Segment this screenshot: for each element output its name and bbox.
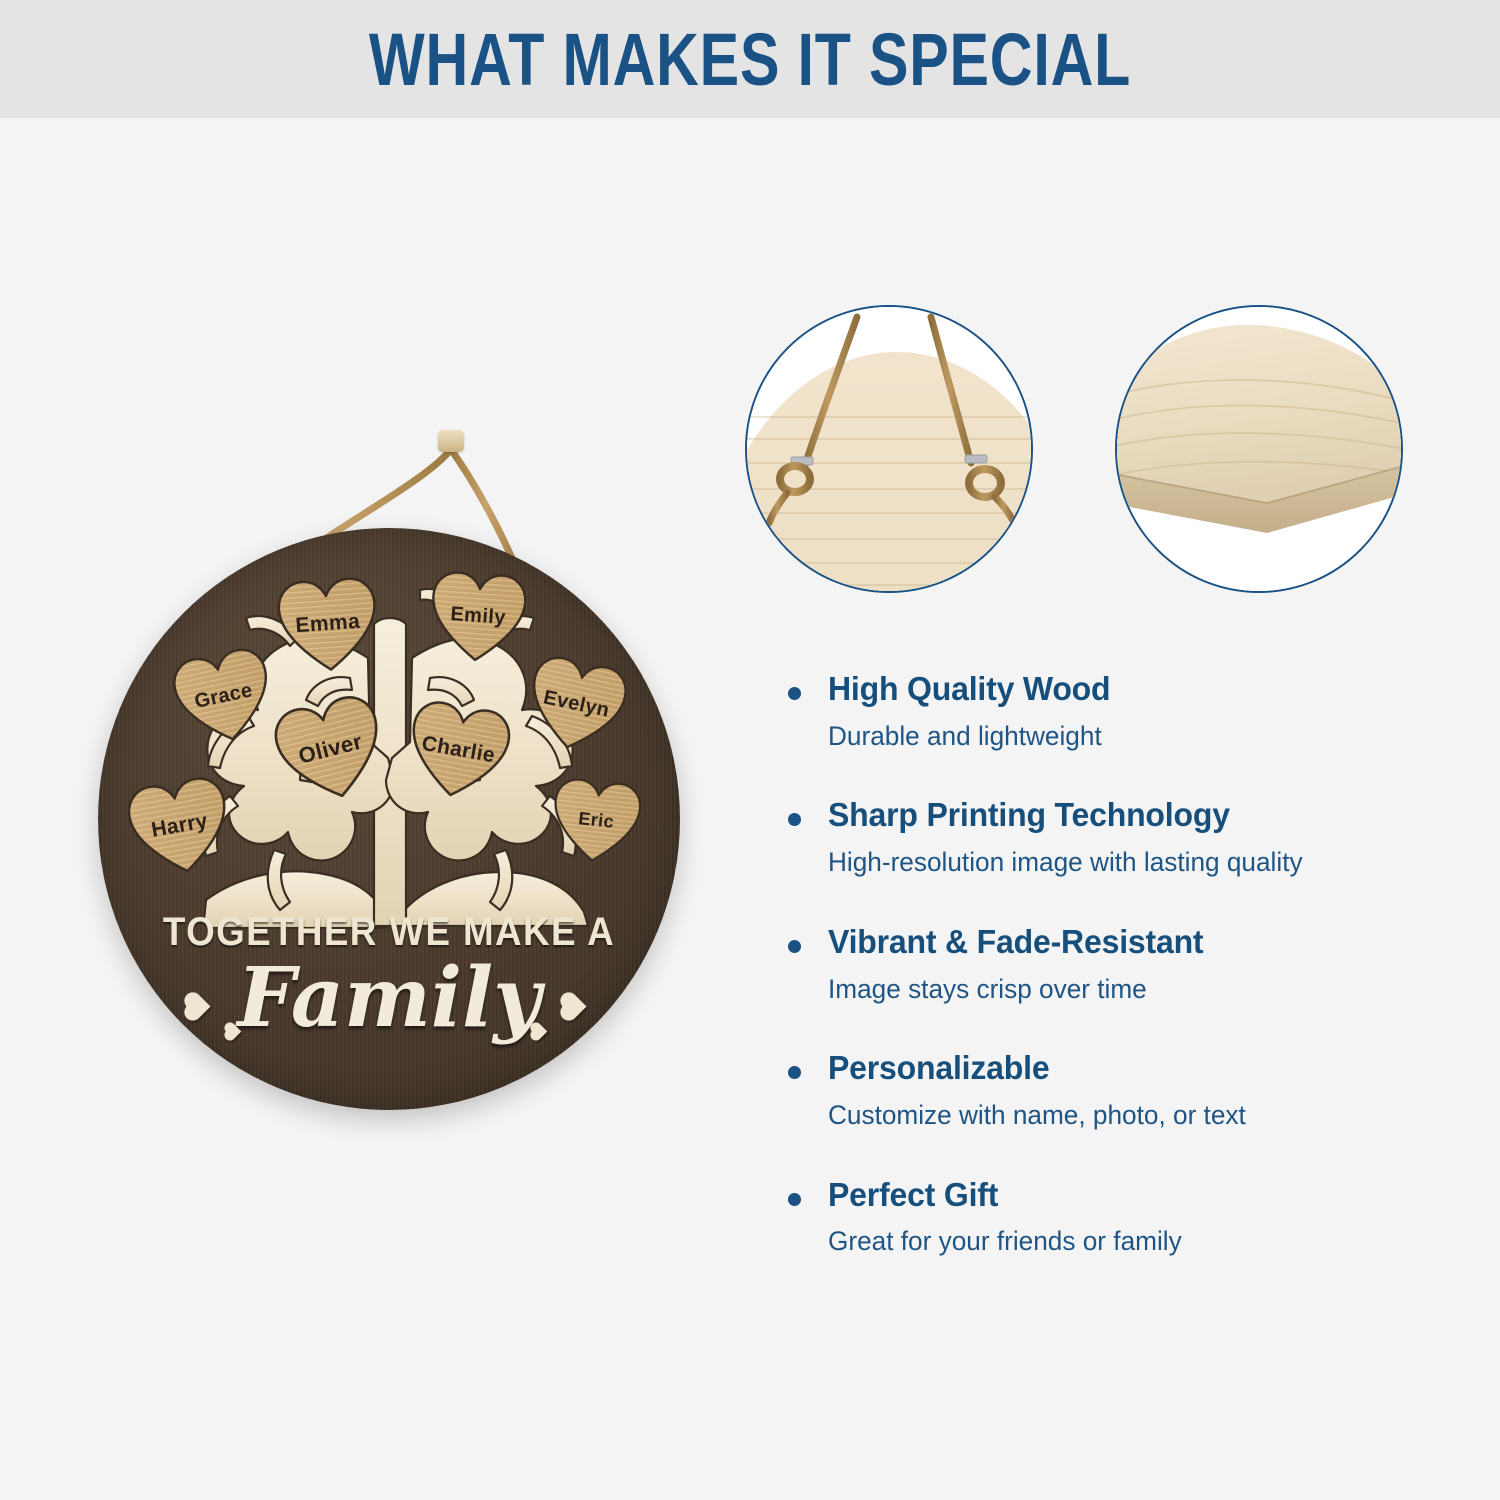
wooden-sign-disc: TOGETHER WE MAKE A Family EmmaEmilyGrace… xyxy=(98,528,680,1110)
feature-description: Image stays crisp over time xyxy=(828,971,1441,1007)
feature-item: PersonalizableCustomize with name, photo… xyxy=(780,1049,1460,1133)
feature-item: Perfect GiftGreat for your friends or fa… xyxy=(780,1176,1460,1260)
feature-title: Vibrant & Fade-Resistant xyxy=(828,923,1441,962)
name-heart: Emily xyxy=(425,565,532,672)
name-heart: Grace xyxy=(165,639,284,758)
bullet-icon xyxy=(788,1066,801,1079)
feature-title: Sharp Printing Technology xyxy=(828,796,1441,835)
feature-list: High Quality WoodDurable and lightweight… xyxy=(780,670,1460,1302)
feature-title: Personalizable xyxy=(828,1049,1441,1088)
heart-name-label: Emma xyxy=(295,610,361,638)
heart-name-label: Eric xyxy=(577,808,615,833)
feature-item: Sharp Printing TechnologyHigh-resolution… xyxy=(780,796,1460,880)
detail-circle-rope-hanger xyxy=(745,305,1033,593)
bullet-icon xyxy=(788,687,801,700)
name-heart: Harry xyxy=(120,768,240,888)
feature-description: High-resolution image with lasting quali… xyxy=(828,844,1441,880)
feature-title: Perfect Gift xyxy=(828,1176,1441,1215)
product-image: TOGETHER WE MAKE A Family EmmaEmilyGrace… xyxy=(60,420,720,1160)
page-title: WHAT MAKES IT SPECIAL xyxy=(150,0,1350,118)
name-heart: Evelyn xyxy=(517,647,636,766)
wood-edge-photo xyxy=(1117,307,1403,593)
feature-description: Great for your friends or family xyxy=(828,1223,1441,1259)
feature-title: High Quality Wood xyxy=(828,670,1441,709)
rope-hanger-photo xyxy=(747,307,1033,593)
hanger-peg-icon xyxy=(438,430,464,452)
feature-description: Durable and lightweight xyxy=(828,718,1441,754)
sign-headline: TOGETHER WE MAKE A xyxy=(121,910,656,955)
feature-item: Vibrant & Fade-ResistantImage stays cris… xyxy=(780,923,1460,1007)
feature-item: High Quality WoodDurable and lightweight xyxy=(780,670,1460,754)
name-heart: Charlie xyxy=(398,692,518,812)
name-heart: Eric xyxy=(545,771,646,872)
bullet-icon xyxy=(788,1193,801,1206)
detail-circle-wood-edge xyxy=(1115,305,1403,593)
feature-description: Customize with name, photo, or text xyxy=(828,1097,1441,1133)
bullet-icon xyxy=(788,940,801,953)
heart-name-label: Emily xyxy=(450,603,507,630)
name-heart: Emma xyxy=(272,570,383,681)
bullet-icon xyxy=(788,813,801,826)
